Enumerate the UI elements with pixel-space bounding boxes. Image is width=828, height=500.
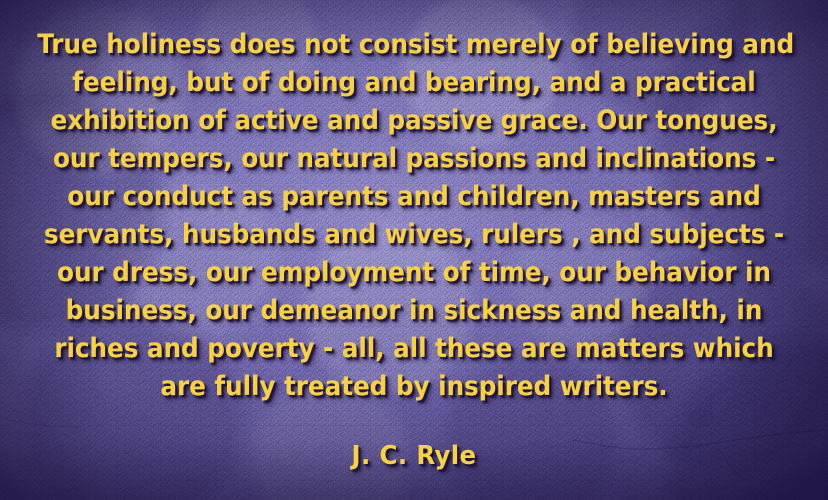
quote-line: servants, husbands and wives, rulers , a… <box>37 216 791 254</box>
quote-attribution: J. C. Ryle <box>25 441 803 471</box>
quote-line: feeling, but of doing and bearing, and a… <box>37 64 791 102</box>
quote-line: business, our demeanor in sickness and h… <box>37 292 791 330</box>
quote-content: True holiness does not consist merely of… <box>0 0 828 500</box>
quote-line: our conduct as parents and children, mas… <box>37 178 791 216</box>
quote-line: riches and poverty - all, all these are … <box>37 330 791 368</box>
quote-line: our tempers, our natural passions and in… <box>37 140 791 178</box>
quote-line: exhibition of active and passive grace. … <box>37 102 791 140</box>
quote-line: are fully treated by inspired writers. <box>37 368 791 406</box>
quote-card: True holiness does not consist merely of… <box>0 0 828 500</box>
quote-line: True holiness does not consist merely of… <box>37 26 791 64</box>
quote-text: True holiness does not consist merely of… <box>30 0 799 406</box>
quote-line: our dress, our employment of time, our b… <box>37 254 791 292</box>
